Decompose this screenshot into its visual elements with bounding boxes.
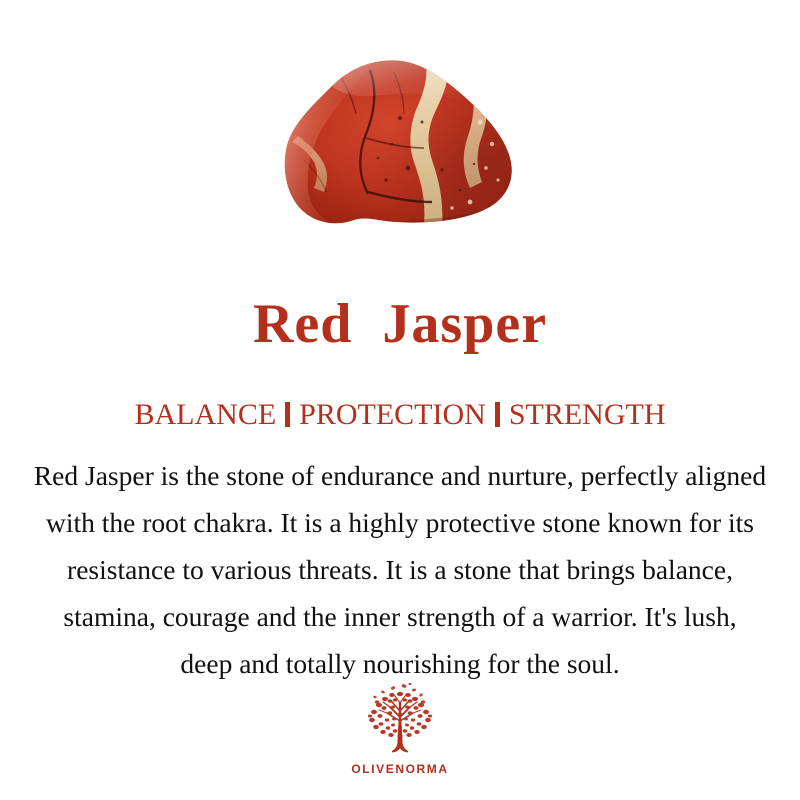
keyword-protection: PROTECTION: [299, 398, 486, 431]
product-image-container: [0, 52, 800, 247]
description-line: Red Jasper is the stone of endurance and…: [8, 452, 792, 499]
keyword-separator-icon: [495, 402, 500, 427]
brand-logo: OLIVENORMA: [0, 683, 800, 776]
description-line: resistance to various threats. It is a s…: [8, 546, 792, 593]
product-description: Red Jasper is the stone of endurance and…: [8, 452, 792, 687]
keyword-tagline: BALANCEPROTECTIONSTRENGTH: [0, 398, 800, 432]
keyword-strength: STRENGTH: [509, 398, 666, 431]
description-line: stamina, courage and the inner strength …: [8, 593, 792, 640]
keyword-separator-icon: [285, 402, 290, 427]
product-info-card: Red Jasper BALANCEPROTECTIONSTRENGTH Red…: [0, 0, 800, 800]
keyword-balance: BALANCE: [134, 398, 276, 431]
description-line: deep and totally nourishing for the soul…: [8, 640, 792, 687]
page-title: Red Jasper: [0, 293, 800, 355]
tree-logo-icon: [357, 683, 443, 759]
description-line: with the root chakra. It is a highly pro…: [8, 499, 792, 546]
brand-name: OLIVENORMA: [0, 762, 800, 776]
red-jasper-stone-image: [274, 52, 526, 242]
